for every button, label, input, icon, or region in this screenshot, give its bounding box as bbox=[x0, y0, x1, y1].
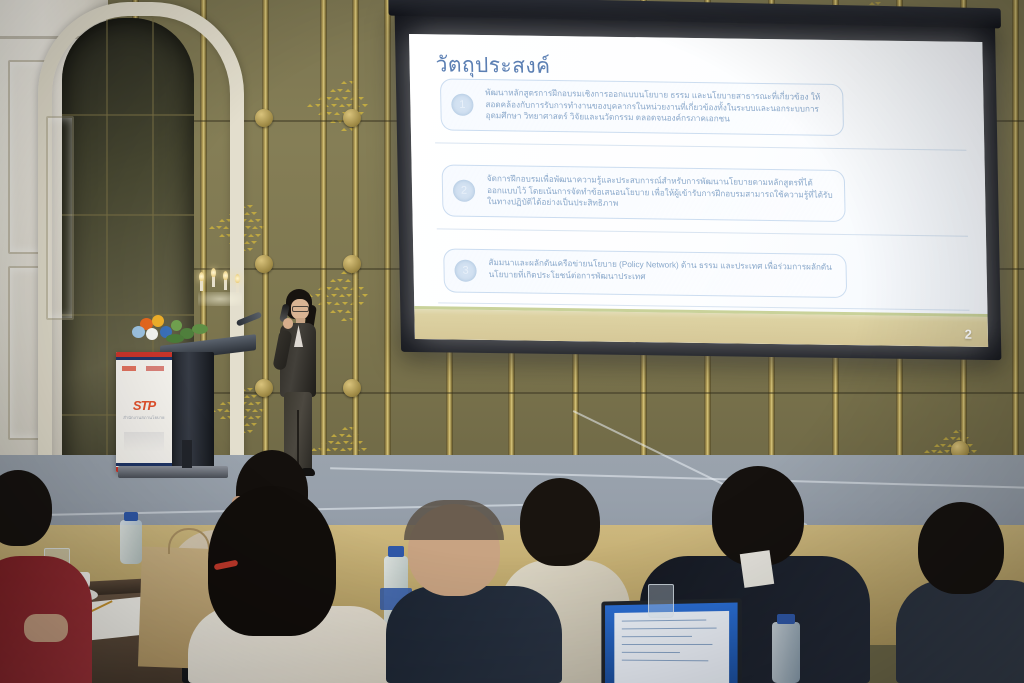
gold-triangle-motif bbox=[330, 89, 336, 92]
audience-person-head bbox=[918, 502, 1004, 594]
wall-panel-molding bbox=[46, 116, 74, 320]
wall-rosette-ornament bbox=[343, 379, 361, 397]
gold-triangle-motif bbox=[244, 212, 250, 215]
audience-person bbox=[896, 580, 1024, 683]
bullet-text: สัมมนาและผลักดันเครือข่ายนโยบาย (Policy … bbox=[488, 257, 836, 285]
gold-triangle-motif bbox=[255, 234, 261, 237]
water-glass bbox=[648, 584, 674, 618]
gold-triangle-motif bbox=[971, 450, 977, 453]
slide-bullet-item: 1 พัฒนาหลักสูตรการฝึกอบรมเชิงการออกแบบนโ… bbox=[440, 78, 844, 136]
gold-triangle-motif bbox=[248, 234, 254, 237]
gold-triangle-motif bbox=[251, 423, 257, 426]
gold-triangle-motif bbox=[334, 97, 340, 100]
gold-triangle-motif bbox=[330, 310, 336, 313]
gold-triangle-motif bbox=[950, 437, 956, 440]
gold-triangle-motif bbox=[362, 294, 368, 297]
gold-triangle-motif bbox=[335, 441, 341, 444]
wall-panel-seam bbox=[110, 392, 1024, 394]
gold-triangle-motif bbox=[343, 441, 349, 444]
wall-pilaster-strip bbox=[384, 0, 391, 470]
gold-triangle-motif bbox=[337, 279, 343, 282]
gold-triangle-motif bbox=[362, 104, 368, 107]
gold-triangle-motif bbox=[248, 402, 254, 405]
wall-sconce bbox=[196, 268, 256, 308]
gold-triangle-motif bbox=[944, 450, 950, 453]
gold-triangle-motif bbox=[875, 2, 881, 5]
bottle-cap bbox=[388, 546, 404, 557]
gold-triangle-motif bbox=[334, 302, 340, 305]
wall-pilaster-strip bbox=[352, 0, 359, 470]
gold-triangle-motif bbox=[334, 287, 340, 290]
gold-triangle-motif bbox=[330, 279, 336, 282]
podium-logo-subtitle: สำนักงานสภานโยบาย bbox=[116, 414, 172, 421]
bullet-number-badge: 2 bbox=[453, 180, 475, 202]
gold-triangle-motif bbox=[255, 416, 261, 419]
gold-triangle-motif bbox=[255, 402, 261, 405]
podium-logo-text: STP bbox=[116, 398, 172, 413]
gold-triangle-motif bbox=[342, 302, 348, 305]
gold-triangle-motif bbox=[244, 423, 250, 426]
gold-triangle-motif bbox=[326, 302, 332, 305]
podium-base bbox=[118, 466, 228, 478]
slide-footer-bar: 2 bbox=[414, 306, 988, 347]
speaker-glasses bbox=[292, 306, 309, 312]
gold-triangle-motif bbox=[247, 248, 253, 251]
bottle-cap bbox=[124, 512, 138, 521]
gold-triangle-motif bbox=[251, 395, 257, 398]
gold-triangle-motif bbox=[328, 441, 334, 444]
gold-triangle-motif bbox=[924, 450, 930, 453]
gold-triangle-motif bbox=[334, 112, 340, 115]
wall-rosette-ornament bbox=[255, 379, 273, 397]
gold-triangle-motif bbox=[339, 104, 345, 107]
gold-triangle-motif bbox=[247, 388, 253, 391]
water-bottle bbox=[772, 622, 800, 683]
presentation-slide: วัตถุประสงค์ 1 พัฒนาหลักสูตรการฝึกอบรมเช… bbox=[409, 34, 988, 347]
wall-pilaster-strip bbox=[320, 0, 327, 470]
wall-pilaster-strip bbox=[262, 0, 269, 470]
gold-triangle-motif bbox=[251, 241, 257, 244]
gold-triangle-motif bbox=[341, 128, 347, 131]
gold-triangle-motif bbox=[331, 294, 337, 297]
gold-triangle-motif bbox=[931, 450, 937, 453]
gold-triangle-motif bbox=[345, 310, 351, 313]
gold-triangle-motif bbox=[345, 89, 351, 92]
gold-triangle-motif bbox=[245, 409, 251, 412]
gold-triangle-motif bbox=[337, 310, 343, 313]
wall-pilaster-strip bbox=[1012, 0, 1019, 470]
gold-triangle-motif bbox=[307, 104, 313, 107]
audience-person-head bbox=[520, 478, 600, 566]
gold-triangle-motif bbox=[252, 226, 258, 229]
gold-triangle-motif bbox=[331, 434, 337, 437]
gold-triangle-motif bbox=[245, 226, 251, 229]
wall-rosette-ornament bbox=[343, 109, 361, 127]
water-bottle bbox=[120, 520, 142, 564]
bullet-text: จัดการฝึกอบรมเพื่อพัฒนาความรู้และประสบกา… bbox=[487, 173, 835, 212]
wall-rosette-ornament bbox=[343, 255, 361, 273]
gold-triangle-motif bbox=[331, 104, 337, 107]
bullet-number-badge: 1 bbox=[451, 94, 473, 116]
gold-triangle-motif bbox=[244, 395, 250, 398]
gold-triangle-motif bbox=[247, 430, 253, 433]
wall-rosette-ornament bbox=[255, 255, 273, 273]
gold-triangle-motif bbox=[937, 450, 943, 453]
gold-triangle-motif bbox=[934, 444, 940, 447]
audience-person-hand bbox=[24, 614, 68, 642]
gold-triangle-motif bbox=[345, 279, 351, 282]
gold-triangle-motif bbox=[332, 448, 338, 451]
gold-triangle-motif bbox=[346, 434, 352, 437]
gold-triangle-motif bbox=[326, 97, 332, 100]
conference-room-photo: วัตถุประสงค์ 1 พัฒนาหลักสูตรการฝึกอบรมเช… bbox=[0, 0, 1024, 683]
gold-triangle-motif bbox=[340, 448, 346, 451]
gold-triangle-motif bbox=[247, 205, 253, 208]
gold-triangle-motif bbox=[248, 416, 254, 419]
gold-triangle-motif bbox=[341, 318, 347, 321]
projection-screen-frame: วัตถุประสงค์ 1 พัฒนาหลักสูตรการฝึกอบรมเช… bbox=[395, 12, 1002, 360]
podium-panel-detail bbox=[182, 440, 192, 468]
flower-arrangement-icon bbox=[130, 312, 218, 346]
bottle-cap bbox=[777, 614, 795, 624]
slide-page-number: 2 bbox=[965, 327, 973, 342]
gold-triangle-motif bbox=[244, 241, 250, 244]
gold-triangle-motif bbox=[361, 448, 367, 451]
gold-triangle-motif bbox=[341, 81, 347, 84]
gold-triangle-motif bbox=[326, 112, 332, 115]
bullet-number-badge: 3 bbox=[454, 260, 476, 282]
gold-triangle-motif bbox=[339, 294, 345, 297]
gold-triangle-motif bbox=[943, 437, 949, 440]
gold-triangle-motif bbox=[251, 212, 257, 215]
gold-triangle-motif bbox=[248, 219, 254, 222]
gold-triangle-motif bbox=[342, 97, 348, 100]
gold-triangle-motif bbox=[940, 444, 946, 447]
gold-triangle-motif bbox=[339, 434, 345, 437]
gold-triangle-motif bbox=[326, 287, 332, 290]
gold-triangle-motif bbox=[255, 219, 261, 222]
slide-bullet-item: 2 จัดการฝึกอบรมเพื่อพัฒนาความรู้และประสบ… bbox=[442, 164, 846, 222]
gold-triangle-motif bbox=[342, 287, 348, 290]
podium-banner: STP สำนักงานสภานโยบาย bbox=[116, 352, 172, 472]
gold-triangle-motif bbox=[342, 427, 348, 430]
gold-triangle-motif bbox=[252, 409, 258, 412]
audience-person bbox=[386, 586, 562, 683]
gold-triangle-motif bbox=[953, 430, 959, 433]
wall-rosette-ornament bbox=[255, 109, 273, 127]
bullet-text: พัฒนาหลักสูตรการฝึกอบรมเชิงการออกแบบนโยบ… bbox=[485, 87, 833, 126]
gold-triangle-motif bbox=[337, 89, 343, 92]
slide-bullet-item: 3 สัมมนาและผลักดันเครือข่ายนโยบาย (Polic… bbox=[443, 248, 847, 298]
shirt-collar bbox=[740, 550, 774, 588]
